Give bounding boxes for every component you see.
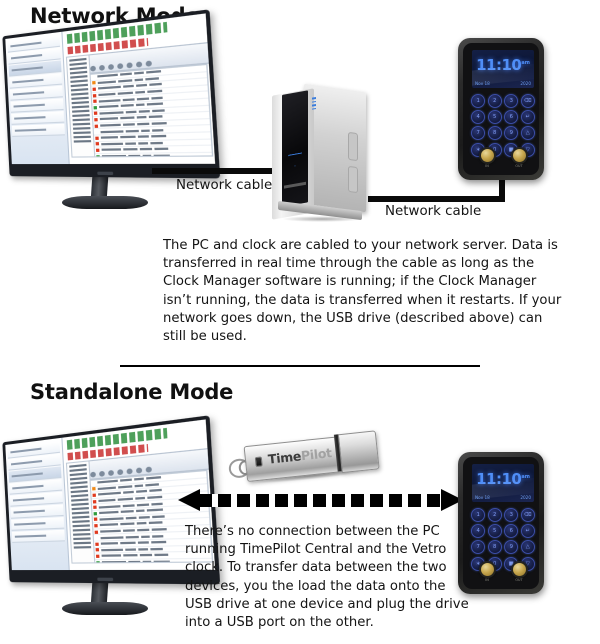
bidirectional-transfer-arrow bbox=[178, 488, 463, 512]
pc-tower bbox=[268, 88, 374, 223]
app-main-area bbox=[63, 13, 215, 164]
pc-tower-front-panel bbox=[272, 88, 314, 219]
clock-sensor-row: IN OUT bbox=[471, 147, 535, 169]
clock-key[interactable]: 9 bbox=[504, 126, 518, 140]
pc-led-indicators bbox=[312, 97, 316, 114]
arrow-head-left-icon bbox=[178, 489, 200, 511]
arrow-dashes bbox=[199, 494, 442, 507]
clock-key[interactable]: 7 bbox=[471, 126, 485, 140]
network-cable-right-segment bbox=[368, 196, 505, 202]
clock-key[interactable]: 8 bbox=[488, 540, 502, 554]
clock-out-sensor-label: OUT bbox=[511, 164, 528, 168]
network-cable-left-segment bbox=[152, 168, 282, 174]
standalone-mode-heading: Standalone Mode bbox=[30, 380, 233, 404]
sidebar-item bbox=[12, 530, 66, 543]
monitor-bezel bbox=[5, 13, 215, 164]
clock-key[interactable]: ↵ bbox=[521, 110, 535, 124]
clock-display: 11:10am Nov 18 2020 bbox=[472, 464, 534, 502]
clock-in-sensor-icon[interactable] bbox=[479, 147, 496, 164]
clock-status-bar: Nov 18 2020 bbox=[475, 81, 531, 86]
clock-key[interactable]: △ bbox=[521, 540, 535, 554]
clock-sensor-row: IN OUT bbox=[471, 561, 535, 583]
clock-faceplate: 11:10am Nov 18 2020 1 2 3 ⌫ 4 5 6 ↵ 7 8 … bbox=[463, 43, 539, 175]
clock-key[interactable]: ⌫ bbox=[521, 508, 535, 522]
sidebar-item bbox=[12, 124, 66, 137]
sidebar-item bbox=[11, 517, 64, 531]
usb-brand-part2: Pilot bbox=[300, 445, 332, 463]
network-cable-label-right: Network cable bbox=[385, 204, 481, 219]
standalone-mode-paragraph: There’s no connection between the PC run… bbox=[185, 523, 475, 632]
clock-key[interactable]: 1 bbox=[471, 94, 485, 108]
sidebar-item bbox=[11, 111, 64, 125]
clock-in-sensor-group[interactable]: IN bbox=[479, 147, 496, 169]
monitor-brand-mark bbox=[97, 172, 113, 175]
clock-key[interactable]: 6 bbox=[504, 110, 518, 124]
timepilot-central-screen bbox=[5, 13, 215, 164]
clock-out-sensor-group[interactable]: OUT bbox=[511, 147, 528, 169]
clock-year: 2020 bbox=[520, 81, 531, 86]
clock-key[interactable]: 8 bbox=[488, 126, 502, 140]
clock-out-sensor-label: OUT bbox=[511, 578, 528, 582]
clock-in-sensor-group[interactable]: IN bbox=[479, 561, 496, 583]
clock-key[interactable]: ↵ bbox=[521, 524, 535, 538]
diagram-canvas: Network Mode bbox=[0, 0, 600, 644]
network-cable-label-left: Network cable bbox=[176, 178, 272, 193]
clock-key[interactable]: 2 bbox=[488, 94, 502, 108]
monitor-stand-base bbox=[62, 196, 148, 209]
clock-key[interactable]: 3 bbox=[504, 508, 518, 522]
clock-key[interactable]: 2 bbox=[488, 508, 502, 522]
app-sidebar bbox=[5, 438, 70, 570]
clock-out-sensor-icon[interactable] bbox=[511, 147, 528, 164]
clock-out-sensor-group[interactable]: OUT bbox=[511, 561, 528, 583]
monitor-brand-mark bbox=[97, 578, 113, 581]
network-mode-paragraph: The PC and clock are cabled to your netw… bbox=[163, 237, 563, 346]
clock-key[interactable]: 4 bbox=[471, 110, 485, 124]
clock-key[interactable]: 9 bbox=[504, 540, 518, 554]
pc-vent bbox=[348, 166, 358, 193]
clock-status-bar: Nov 18 2020 bbox=[475, 495, 531, 500]
clock-key[interactable]: 1 bbox=[471, 508, 485, 522]
monitor-standalone bbox=[6, 442, 206, 627]
clock-key[interactable]: ⌫ bbox=[521, 94, 535, 108]
clock-out-sensor-icon[interactable] bbox=[511, 561, 528, 578]
clock-in-sensor-label: IN bbox=[479, 164, 496, 168]
transaction-grid bbox=[90, 64, 214, 158]
clock-display: 11:10am Nov 18 2020 bbox=[472, 50, 534, 88]
usb-drive-cap bbox=[338, 430, 380, 473]
monitor-body bbox=[2, 9, 220, 178]
clock-key[interactable]: 5 bbox=[488, 110, 502, 124]
clock-date: Nov 18 bbox=[475, 81, 490, 86]
clock-in-sensor-icon[interactable] bbox=[479, 561, 496, 578]
app-sidebar bbox=[5, 32, 70, 164]
clock-date: Nov 18 bbox=[475, 495, 490, 500]
monitor-network bbox=[6, 36, 206, 221]
monitor-stand-base bbox=[62, 602, 148, 615]
vetro-clock-network: 11:10am Nov 18 2020 1 2 3 ⌫ 4 5 6 ↵ 7 8 … bbox=[458, 38, 544, 180]
usb-drive: TimePilot bbox=[226, 424, 382, 490]
clock-key[interactable]: 6 bbox=[504, 524, 518, 538]
section-divider bbox=[120, 365, 480, 367]
clock-key[interactable]: 3 bbox=[504, 94, 518, 108]
clock-key[interactable]: 5 bbox=[488, 524, 502, 538]
clock-in-sensor-label: IN bbox=[479, 578, 496, 582]
clock-year: 2020 bbox=[520, 495, 531, 500]
pc-glass-panel bbox=[282, 90, 308, 207]
pc-vent bbox=[348, 132, 358, 161]
clock-key[interactable]: △ bbox=[521, 126, 535, 140]
usb-activity-led-icon bbox=[255, 456, 263, 467]
